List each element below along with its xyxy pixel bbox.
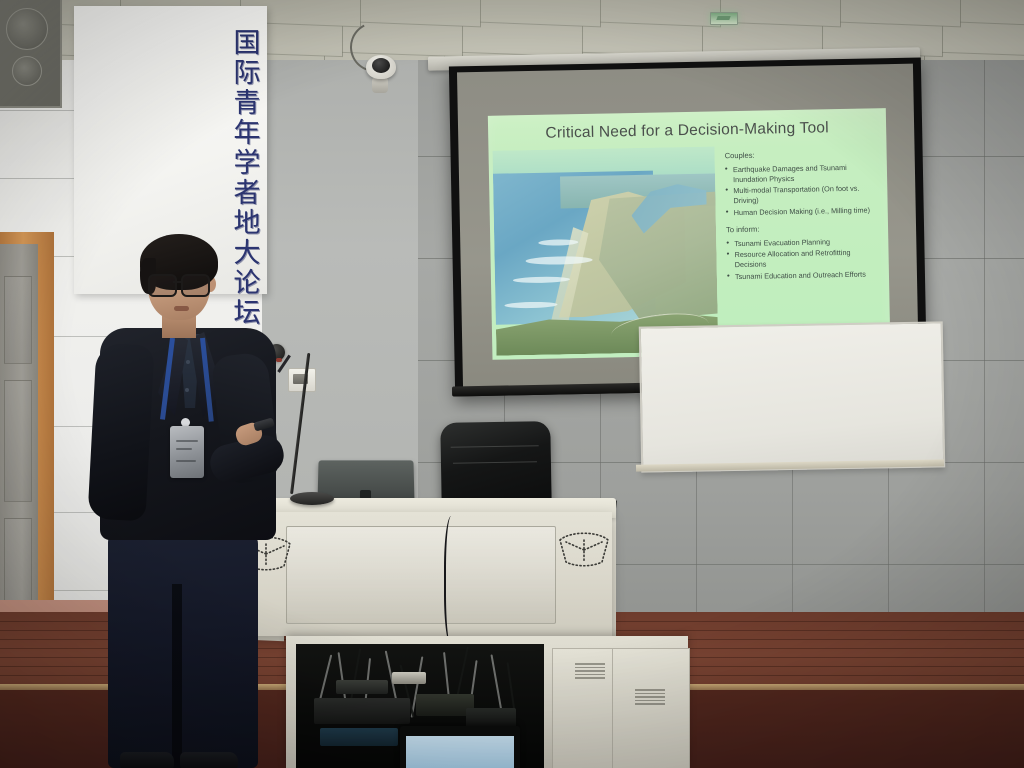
slide-bullet-b-1: Resource Allocation and Retrofitting Dec…: [726, 247, 882, 269]
cabinet-door-right[interactable]: [612, 648, 690, 768]
banner-char-2: 青: [234, 90, 261, 117]
banner-char-4: 学: [234, 150, 261, 177]
cabinet-equipment: [466, 708, 516, 728]
slide-bullets-1: Earthquake Damages and Tsunami Inundatio…: [725, 162, 882, 218]
presenter-arm-left: [87, 343, 154, 522]
banner-char-5: 者: [234, 180, 261, 207]
cabinet-equipment: [320, 728, 398, 746]
presentation-slide: Critical Need for a Decision-Making Tool: [488, 108, 891, 360]
lecture-hall-scene: 国际青年学者地大论坛 Critical Need for a Decision-…: [0, 0, 1024, 768]
microphone-base: [290, 492, 334, 505]
cabinet-equipment: [336, 680, 388, 694]
slide-lead-1: Couples:: [725, 148, 881, 160]
slide-title: Critical Need for a Decision-Making Tool: [488, 118, 886, 144]
ceiling-tile: [942, 22, 1024, 57]
shirt-button-2: [185, 388, 189, 392]
presenter: [86, 232, 286, 768]
podium-front-panel: [286, 526, 556, 624]
control-monitor-screen: [406, 736, 514, 768]
slide-bullet-a-2: Human Decision Making (i.e., Milling tim…: [726, 205, 882, 218]
slide-lead-2: To inform:: [726, 222, 882, 234]
slide-bullet-b-0: Tsunami Evacuation Planning: [726, 236, 882, 249]
shirt-button: [186, 360, 190, 364]
cabinet-equipment: [314, 698, 410, 724]
banner-char-1: 际: [234, 60, 261, 87]
cabinet-vent-icon: [575, 663, 605, 679]
exit-light-icon: [710, 12, 738, 25]
podium-cable: [444, 516, 462, 646]
name-badge: [170, 426, 204, 478]
presenter-legs: [108, 530, 258, 768]
presenter-shoe-left: [120, 752, 174, 768]
banner-char-3: 年: [234, 120, 261, 147]
tile-grout-line-v: [984, 60, 985, 630]
eyeglasses-icon: [148, 274, 212, 294]
presenter-shoe-right: [180, 752, 238, 768]
presenter-mouth: [174, 306, 189, 311]
cabinet-equipment: [392, 672, 426, 684]
slide-bullet-a-0: Earthquake Damages and Tsunami Inundatio…: [725, 162, 881, 184]
presenter-leg-gap: [172, 584, 182, 768]
slide-text-body: Couples: Earthquake Damages and Tsunami …: [725, 148, 884, 288]
slide-bullets-2: Tsunami Evacuation PlanningResource Allo…: [726, 236, 883, 282]
podium-emblem-right-icon: [556, 526, 612, 570]
whiteboard: [639, 321, 946, 472]
wall-speaker: [0, 0, 62, 108]
office-chair[interactable]: [440, 421, 551, 509]
slide-bullet-b-2: Tsunami Education and Outreach Efforts: [727, 269, 883, 282]
camera-mount: [372, 77, 388, 93]
cabinet-cable-dark: [507, 662, 516, 712]
banner-char-0: 国: [234, 30, 261, 57]
cabinet-vent-icon-2: [635, 689, 665, 705]
slide-aerial-photo: [492, 146, 718, 355]
camera-lens-icon: [372, 58, 390, 73]
slide-bullet-a-1: Multi-modal Transportation (On foot vs. …: [725, 184, 881, 206]
